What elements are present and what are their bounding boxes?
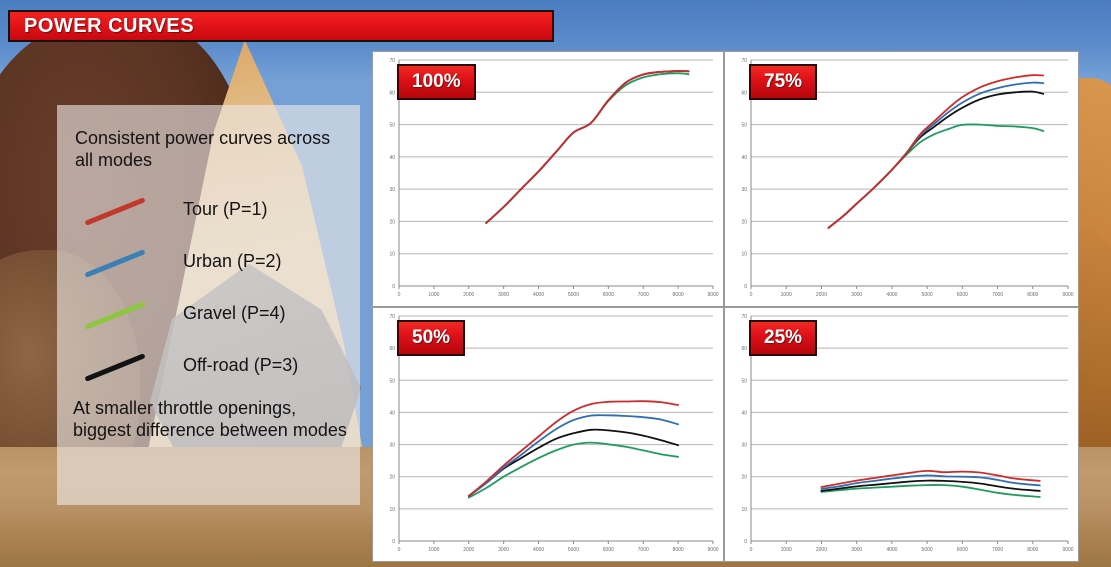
svg-text:6000: 6000 bbox=[603, 292, 614, 298]
svg-text:0: 0 bbox=[744, 284, 747, 290]
svg-text:30: 30 bbox=[741, 443, 747, 449]
svg-text:7000: 7000 bbox=[638, 292, 649, 298]
panel-footer: At smaller throttle openings, biggest di… bbox=[73, 397, 353, 441]
svg-text:60: 60 bbox=[389, 90, 395, 96]
chart-panel-25: 25% 010203040506070010002000300040005000… bbox=[724, 307, 1079, 562]
legend-item-urban: Urban (P=2) bbox=[75, 245, 345, 299]
svg-text:4000: 4000 bbox=[533, 547, 544, 553]
svg-text:20: 20 bbox=[741, 475, 747, 481]
page-title: POWER CURVES bbox=[10, 15, 194, 38]
svg-text:9000: 9000 bbox=[1062, 547, 1073, 553]
svg-text:4000: 4000 bbox=[886, 292, 897, 298]
legend-item-offroad: Off-road (P=3) bbox=[75, 349, 345, 403]
svg-text:0: 0 bbox=[398, 292, 401, 298]
svg-text:1000: 1000 bbox=[781, 547, 792, 553]
legend-item-gravel: Gravel (P=4) bbox=[75, 297, 345, 351]
svg-text:9000: 9000 bbox=[707, 292, 718, 298]
svg-text:40: 40 bbox=[389, 155, 395, 161]
svg-text:60: 60 bbox=[741, 90, 747, 96]
legend-swatch-urban bbox=[84, 249, 145, 278]
svg-text:7000: 7000 bbox=[992, 547, 1003, 553]
legend-swatch-offroad bbox=[84, 353, 145, 382]
svg-text:0: 0 bbox=[392, 284, 395, 290]
svg-text:30: 30 bbox=[389, 443, 395, 449]
chart-panel-75: 75% 010203040506070010002000300040005000… bbox=[724, 51, 1079, 307]
chart-badge-75: 75% bbox=[749, 64, 817, 100]
svg-text:70: 70 bbox=[389, 314, 395, 320]
legend-label-urban: Urban (P=2) bbox=[183, 251, 282, 272]
svg-text:20: 20 bbox=[741, 219, 747, 225]
svg-text:1000: 1000 bbox=[781, 292, 792, 298]
svg-text:3000: 3000 bbox=[851, 547, 862, 553]
svg-text:50: 50 bbox=[741, 378, 747, 384]
svg-text:2000: 2000 bbox=[463, 547, 474, 553]
svg-text:0: 0 bbox=[750, 292, 753, 298]
chart-grid: 100% 01020304050607001000200030004000500… bbox=[372, 51, 1079, 562]
chart-panel-50: 50% 010203040506070010002000300040005000… bbox=[372, 307, 724, 562]
svg-text:6000: 6000 bbox=[957, 547, 968, 553]
svg-text:0: 0 bbox=[398, 547, 401, 553]
svg-text:30: 30 bbox=[741, 187, 747, 193]
svg-text:8000: 8000 bbox=[673, 547, 684, 553]
slide-stage: POWER CURVES Consistent power curves acr… bbox=[0, 0, 1111, 567]
svg-text:7000: 7000 bbox=[992, 292, 1003, 298]
legend-label-gravel: Gravel (P=4) bbox=[183, 303, 286, 324]
svg-text:8000: 8000 bbox=[1027, 547, 1038, 553]
svg-text:0: 0 bbox=[392, 539, 395, 545]
svg-text:2000: 2000 bbox=[816, 292, 827, 298]
svg-text:10: 10 bbox=[389, 252, 395, 258]
svg-text:7000: 7000 bbox=[638, 547, 649, 553]
svg-text:5000: 5000 bbox=[922, 547, 933, 553]
chart-panel-100: 100% 01020304050607001000200030004000500… bbox=[372, 51, 724, 307]
info-panel: Consistent power curves across all modes… bbox=[57, 105, 360, 505]
svg-text:20: 20 bbox=[389, 475, 395, 481]
svg-text:6000: 6000 bbox=[603, 547, 614, 553]
svg-text:3000: 3000 bbox=[498, 547, 509, 553]
legend-label-offroad: Off-road (P=3) bbox=[183, 355, 298, 376]
svg-text:5000: 5000 bbox=[568, 547, 579, 553]
svg-text:8000: 8000 bbox=[1027, 292, 1038, 298]
svg-text:20: 20 bbox=[389, 219, 395, 225]
svg-text:10: 10 bbox=[389, 507, 395, 513]
svg-text:4000: 4000 bbox=[886, 547, 897, 553]
svg-text:3000: 3000 bbox=[851, 292, 862, 298]
svg-text:9000: 9000 bbox=[707, 547, 718, 553]
chart-badge-100: 100% bbox=[397, 64, 476, 100]
svg-text:1000: 1000 bbox=[428, 547, 439, 553]
svg-text:0: 0 bbox=[744, 539, 747, 545]
legend-label-tour: Tour (P=1) bbox=[183, 199, 268, 220]
title-bar: POWER CURVES bbox=[8, 10, 554, 42]
svg-text:40: 40 bbox=[741, 155, 747, 161]
svg-text:2000: 2000 bbox=[816, 547, 827, 553]
svg-text:40: 40 bbox=[389, 410, 395, 416]
svg-text:10: 10 bbox=[741, 252, 747, 258]
svg-text:70: 70 bbox=[389, 58, 395, 64]
svg-text:1000: 1000 bbox=[428, 292, 439, 298]
legend-swatch-gravel bbox=[84, 301, 145, 330]
svg-text:60: 60 bbox=[741, 346, 747, 352]
svg-text:50: 50 bbox=[389, 378, 395, 384]
svg-text:30: 30 bbox=[389, 187, 395, 193]
legend-swatch-tour bbox=[84, 197, 145, 226]
svg-text:5000: 5000 bbox=[922, 292, 933, 298]
svg-text:4000: 4000 bbox=[533, 292, 544, 298]
svg-text:9000: 9000 bbox=[1062, 292, 1073, 298]
svg-text:5000: 5000 bbox=[568, 292, 579, 298]
svg-text:40: 40 bbox=[741, 410, 747, 416]
legend-item-tour: Tour (P=1) bbox=[75, 193, 345, 247]
svg-text:6000: 6000 bbox=[957, 292, 968, 298]
chart-badge-25: 25% bbox=[749, 320, 817, 356]
svg-text:2000: 2000 bbox=[463, 292, 474, 298]
svg-text:50: 50 bbox=[389, 123, 395, 129]
svg-text:0: 0 bbox=[750, 547, 753, 553]
svg-text:50: 50 bbox=[741, 123, 747, 129]
svg-text:70: 70 bbox=[741, 314, 747, 320]
chart-badge-50: 50% bbox=[397, 320, 465, 356]
svg-text:8000: 8000 bbox=[673, 292, 684, 298]
svg-text:10: 10 bbox=[741, 507, 747, 513]
panel-heading: Consistent power curves across all modes bbox=[75, 127, 345, 171]
svg-text:3000: 3000 bbox=[498, 292, 509, 298]
svg-text:60: 60 bbox=[389, 346, 395, 352]
svg-text:70: 70 bbox=[741, 58, 747, 64]
